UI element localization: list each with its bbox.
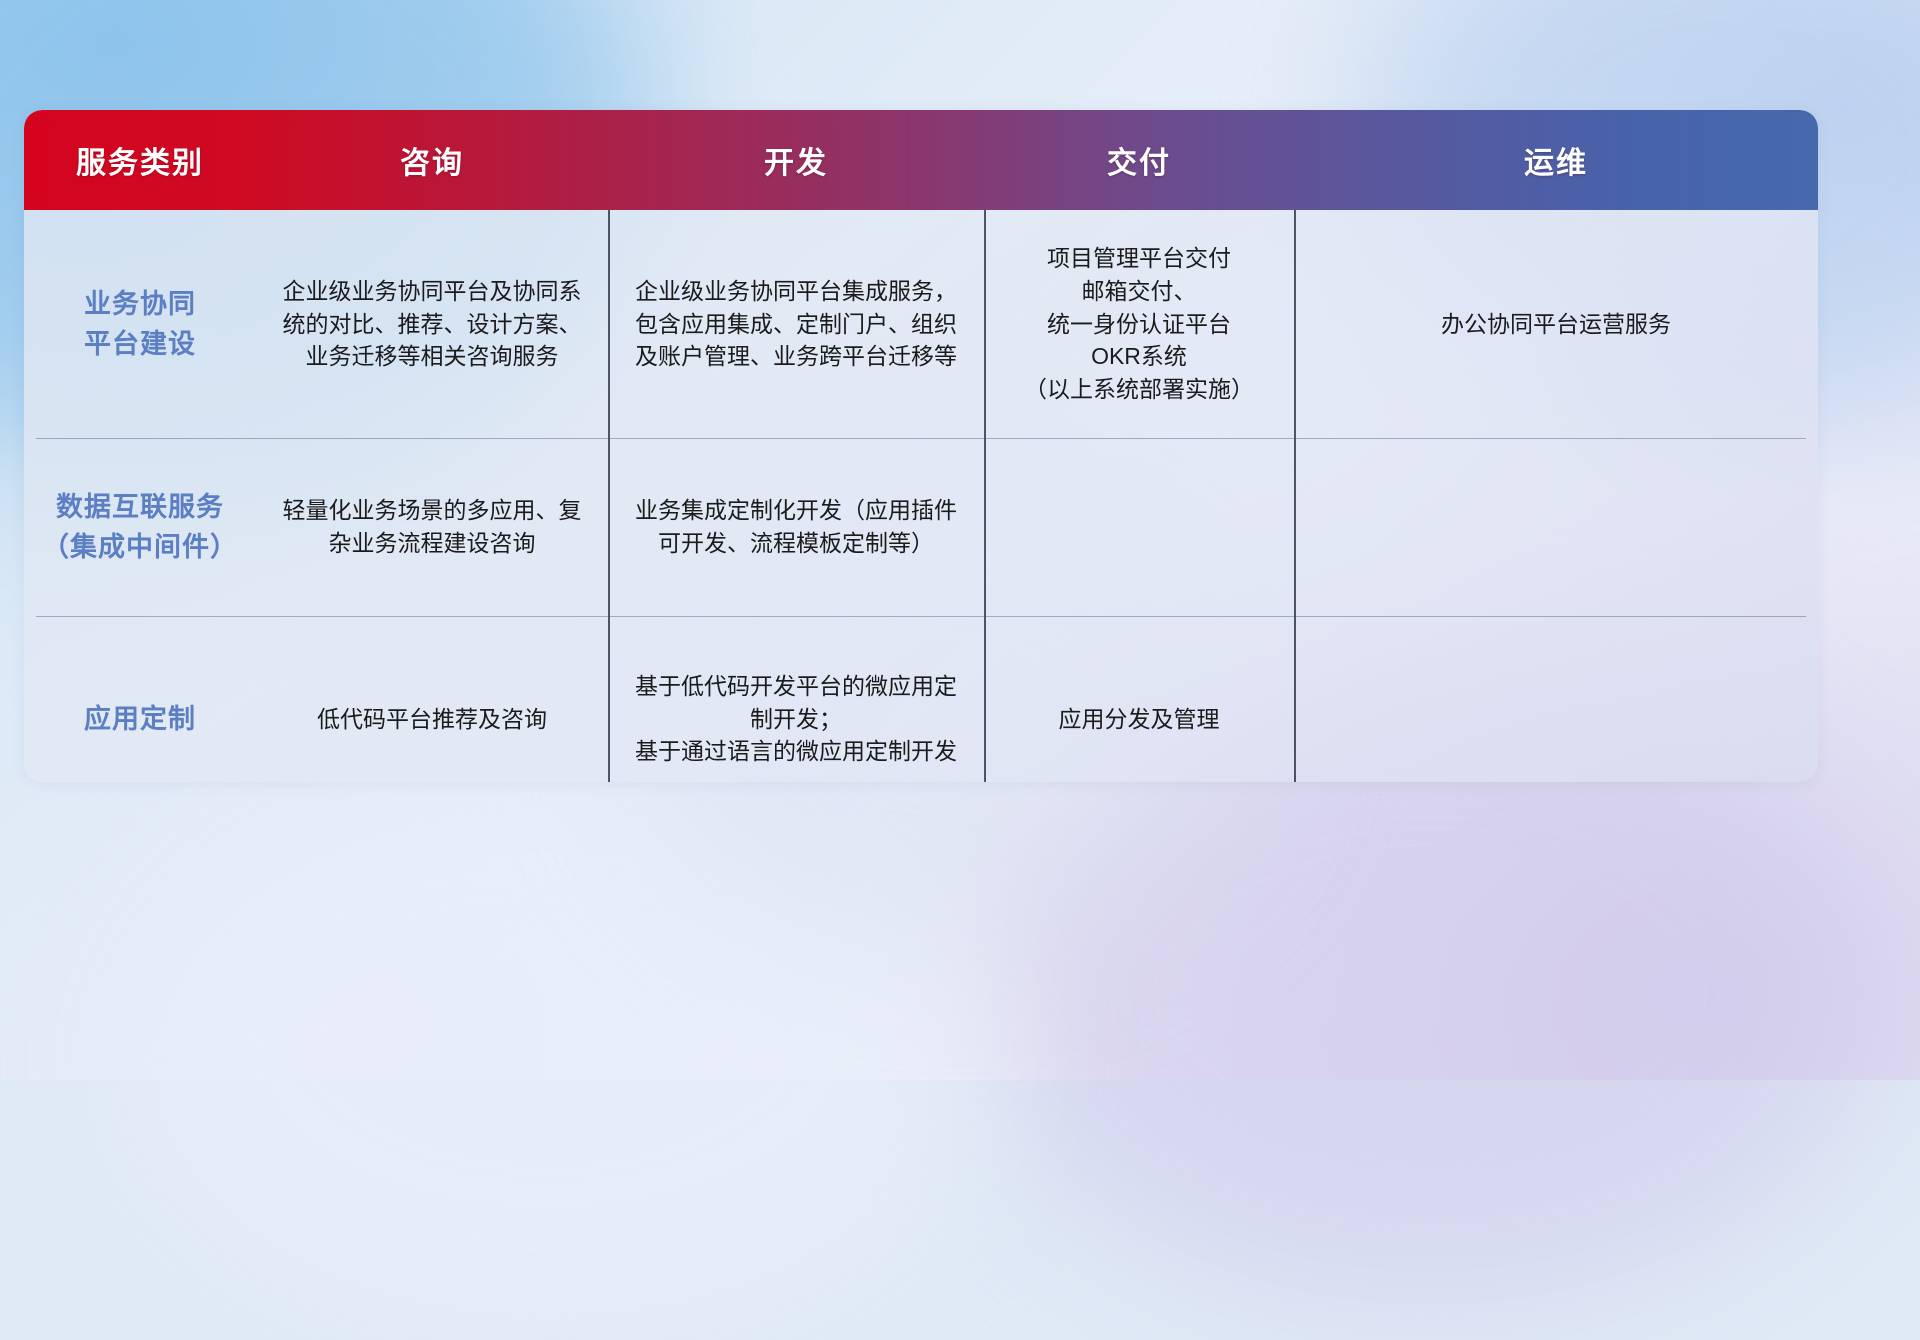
service-matrix-table: 服务类别 咨询 开发 交付 运维 业务协同 平台建设 企业级业务协同平台及协同系…: [24, 110, 1818, 782]
column-header-operations: 运维: [1294, 110, 1818, 210]
table-header-row: 服务类别 咨询 开发 交付 运维: [24, 110, 1818, 210]
cell-category: 数据互联服务 （集成中间件）: [24, 438, 256, 616]
cell-development: 业务集成定制化开发（应用插件 可开发、流程模板定制等）: [608, 438, 984, 616]
column-header-development: 开发: [608, 110, 984, 210]
cell-category: 业务协同 平台建设: [24, 210, 256, 438]
cell-operations: 办公协同平台运营服务: [1294, 210, 1818, 438]
column-header-consulting: 咨询: [256, 110, 608, 210]
cell-category: 应用定制: [24, 616, 256, 782]
table-row: 业务协同 平台建设 企业级业务协同平台及协同系 统的对比、推荐、设计方案、 业务…: [24, 210, 1818, 438]
cell-consulting: 企业级业务协同平台及协同系 统的对比、推荐、设计方案、 业务迁移等相关咨询服务: [256, 210, 608, 438]
table-row: 应用定制 低代码平台推荐及咨询 基于低代码开发平台的微应用定 制开发； 基于通过…: [24, 616, 1818, 782]
column-header-service-category: 服务类别: [24, 110, 256, 210]
table-row: 数据互联服务 （集成中间件） 轻量化业务场景的多应用、复 杂业务流程建设咨询 业…: [24, 438, 1818, 616]
cell-operations: [1294, 616, 1818, 782]
cell-delivery: 应用分发及管理: [984, 616, 1294, 782]
background-blob-bottom-left: [120, 780, 980, 1340]
cell-consulting: 低代码平台推荐及咨询: [256, 616, 608, 782]
cell-consulting: 轻量化业务场景的多应用、复 杂业务流程建设咨询: [256, 438, 608, 616]
cell-delivery: [984, 438, 1294, 616]
cell-development: 基于低代码开发平台的微应用定 制开发； 基于通过语言的微应用定制开发: [608, 616, 984, 782]
column-header-delivery: 交付: [984, 110, 1294, 210]
cell-delivery: 项目管理平台交付 邮箱交付、 统一身份认证平台 OKR系统 （以上系统部署实施）: [984, 210, 1294, 438]
table-body: 业务协同 平台建设 企业级业务协同平台及协同系 统的对比、推荐、设计方案、 业务…: [24, 210, 1818, 782]
cell-operations: [1294, 438, 1818, 616]
cell-development: 企业级业务协同平台集成服务， 包含应用集成、定制门户、组织 及账户管理、业务跨平…: [608, 210, 984, 438]
